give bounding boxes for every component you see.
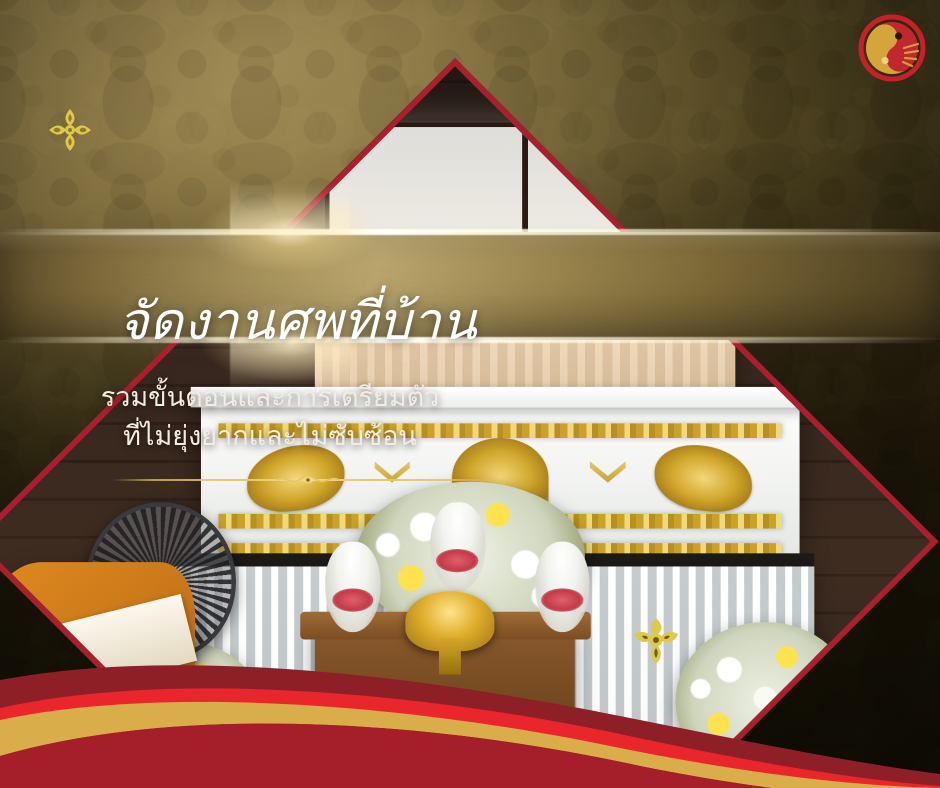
- subtitle-block: รวมขั้นตอนและการเตรียมตัว ที่ไม่ยุ่งยากแ…: [0, 378, 540, 456]
- gold-divider: [112, 472, 504, 488]
- page-title: จัดงานศพที่บ้าน: [0, 267, 940, 375]
- yin-yang-logo[interactable]: [858, 14, 926, 82]
- poster-root: จัดงานศพที่บ้าน รวมขั้นตอนและการเตรียมตั…: [0, 0, 940, 788]
- bottom-decorative-wave: [0, 588, 940, 788]
- thai-flower-ornament-top-left: [46, 106, 94, 154]
- divider-flourish-ornament: [273, 472, 343, 493]
- subtitle-line-2: ที่ไม่ยุ่งยากและไม่ซับซ้อน: [0, 417, 540, 456]
- banner-top-highlight: [0, 229, 940, 235]
- subtitle-line-1: รวมขั้นตอนและการเตรียมตัว: [0, 378, 540, 417]
- thai-flower-ornament-bottom: [628, 612, 684, 668]
